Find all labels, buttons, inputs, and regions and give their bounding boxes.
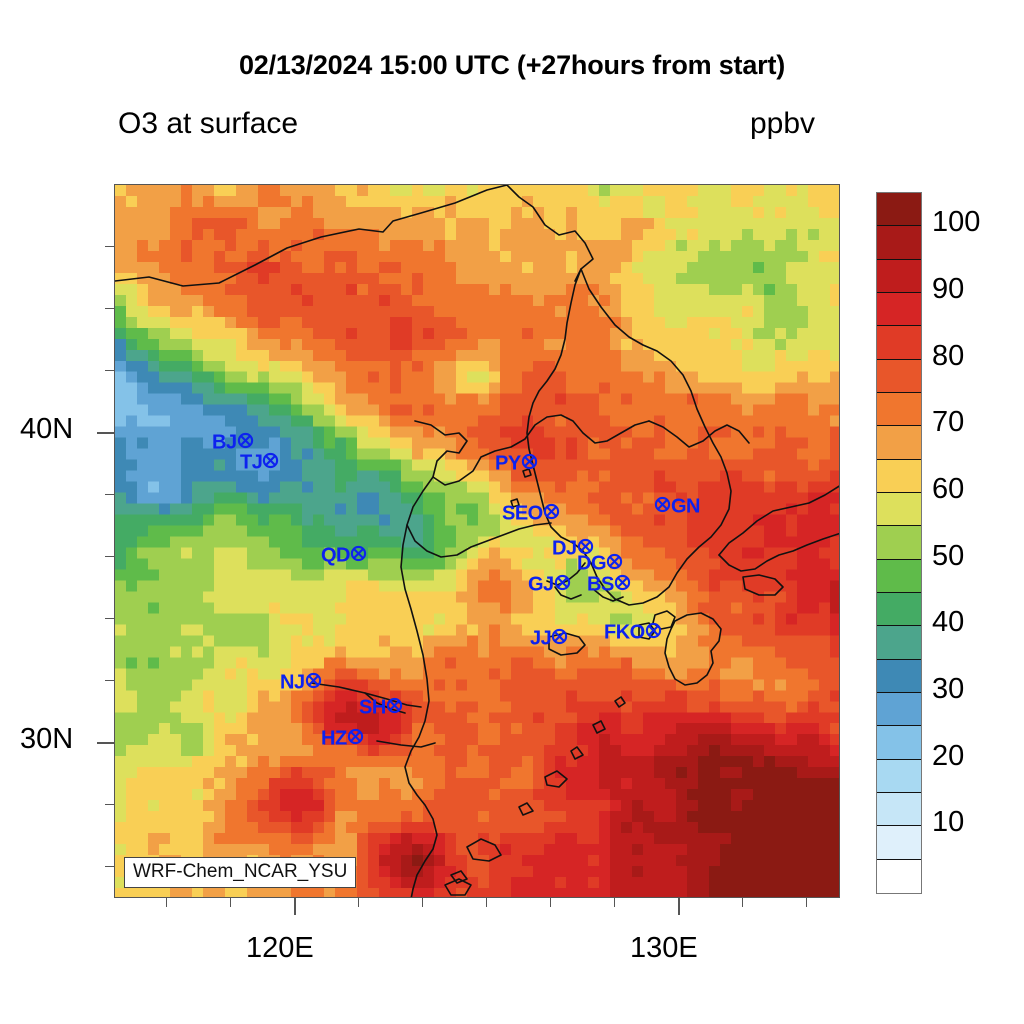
colorbar-tick-label: 40: [932, 606, 964, 639]
circle-x-marker: [606, 553, 623, 574]
axis-tick: [105, 246, 114, 247]
station-code: HZ: [321, 728, 347, 750]
circle-x-marker: [262, 452, 279, 473]
circle-x-marker: [305, 672, 322, 693]
axis-tick: [678, 898, 680, 915]
axis-tick: [105, 370, 114, 371]
axis-tick: [166, 898, 167, 907]
axis-tick: [550, 898, 551, 907]
figure-title: 02/13/2024 15:00 UTC (+27hours from star…: [0, 50, 1024, 81]
axis-tick: [230, 898, 231, 907]
axis-tick: [105, 556, 114, 557]
units-label: ppbv: [750, 107, 815, 141]
circle-x-marker: [554, 574, 571, 595]
colorbar-tick-label: 20: [932, 740, 964, 773]
map-plot-area[interactable]: WRF-Chem_NCAR_YSU: [114, 184, 840, 898]
colorbar-tick-label: 60: [932, 473, 964, 506]
colorbar-band: [877, 193, 921, 226]
colorbar-band: [877, 260, 921, 293]
colorbar-tick-label: 10: [932, 806, 964, 839]
station-code: DJ: [552, 538, 577, 560]
colorbar-band: [877, 660, 921, 693]
colorbar-tick-label: 70: [932, 406, 964, 439]
station-code: GN: [671, 496, 700, 518]
station-marker-fko[interactable]: FKO: [604, 622, 662, 643]
axis-tick: [614, 898, 615, 907]
colorbar-band: [877, 626, 921, 659]
station-code: DG: [577, 553, 606, 575]
model-label: WRF-Chem_NCAR_YSU: [124, 857, 356, 888]
axis-tick: [105, 618, 114, 619]
circle-x-marker: [347, 728, 364, 749]
colorbar-band: [877, 793, 921, 826]
axis-tick: [97, 432, 114, 434]
station-marker-gn[interactable]: GN: [654, 496, 700, 517]
station-code: QD: [321, 545, 350, 567]
colorbar-band: [877, 360, 921, 393]
colorbar-band: [877, 826, 921, 859]
station-marker-qd[interactable]: QD: [321, 545, 367, 566]
colorbar-band: [877, 393, 921, 426]
station-marker-bs[interactable]: BS: [587, 574, 631, 595]
colorbar-band: [877, 226, 921, 259]
colorbar-tick-label: 50: [932, 540, 964, 573]
circle-x-marker: [645, 622, 662, 643]
station-marker-seo[interactable]: SEO: [502, 503, 560, 524]
circle-x-marker: [551, 628, 568, 649]
colorbar-band: [877, 426, 921, 459]
station-marker-gj[interactable]: GJ: [528, 574, 571, 595]
colorbar-tick-label: 80: [932, 340, 964, 373]
coastline-overlay: [115, 185, 840, 898]
variable-label: O3 at surface: [118, 107, 298, 141]
colorbar-band: [877, 760, 921, 793]
colorbar-band: [877, 726, 921, 759]
x-axis-label: 120E: [246, 932, 314, 965]
colorbar[interactable]: [876, 192, 922, 894]
axis-tick: [105, 494, 114, 495]
circle-x-marker: [614, 574, 631, 595]
colorbar-band: [877, 860, 921, 893]
station-code: FKO: [604, 622, 645, 644]
circle-x-marker: [237, 432, 254, 453]
station-marker-bj[interactable]: BJ: [212, 432, 254, 453]
x-axis-label: 130E: [630, 932, 698, 965]
circle-x-marker: [386, 697, 403, 718]
station-marker-py[interactable]: PY: [495, 453, 538, 474]
station-code: SH: [359, 697, 386, 719]
colorbar-band: [877, 326, 921, 359]
circle-x-marker: [521, 453, 538, 474]
axis-tick: [105, 804, 114, 805]
axis-tick: [486, 898, 487, 907]
circle-x-marker: [543, 503, 560, 524]
circle-x-marker: [654, 496, 671, 517]
station-marker-nj[interactable]: NJ: [280, 672, 322, 693]
colorbar-tick-label: 90: [932, 273, 964, 306]
axis-tick: [105, 308, 114, 309]
station-code: GJ: [528, 574, 554, 596]
colorbar-tick-label: 30: [932, 673, 964, 706]
y-axis-label: 30N: [20, 723, 73, 756]
axis-tick: [105, 680, 114, 681]
station-marker-jj[interactable]: JJ: [530, 628, 568, 649]
colorbar-band: [877, 693, 921, 726]
station-marker-sh[interactable]: SH: [359, 697, 403, 718]
y-axis-label: 40N: [20, 413, 73, 446]
axis-tick: [358, 898, 359, 907]
colorbar-band: [877, 526, 921, 559]
axis-tick: [294, 898, 296, 915]
station-code: JJ: [530, 628, 551, 650]
station-code: BJ: [212, 432, 237, 454]
station-marker-tj[interactable]: TJ: [240, 452, 279, 473]
station-code: BS: [587, 574, 614, 596]
colorbar-band: [877, 593, 921, 626]
axis-tick: [97, 742, 114, 744]
axis-tick: [105, 866, 114, 867]
figure-root: 02/13/2024 15:00 UTC (+27hours from star…: [0, 0, 1024, 1024]
axis-tick: [422, 898, 423, 907]
colorbar-band: [877, 293, 921, 326]
station-code: NJ: [280, 672, 305, 694]
circle-x-marker: [350, 545, 367, 566]
axis-tick: [742, 898, 743, 907]
station-marker-dg[interactable]: DG: [577, 553, 623, 574]
station-code: TJ: [240, 452, 262, 474]
colorbar-band: [877, 493, 921, 526]
station-code: PY: [495, 453, 521, 475]
colorbar-band: [877, 560, 921, 593]
colorbar-band: [877, 460, 921, 493]
station-marker-hz[interactable]: HZ: [321, 728, 364, 749]
axis-tick: [806, 898, 807, 907]
colorbar-tick-label: 100: [932, 206, 980, 239]
station-code: SEO: [502, 503, 543, 525]
